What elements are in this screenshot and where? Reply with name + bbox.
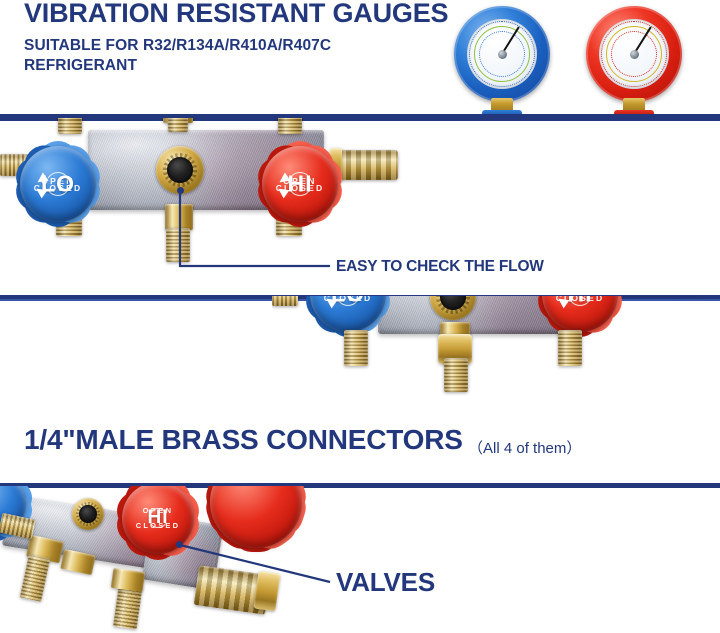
infographic-canvas: VIBRATION RESISTANT GAUGES SUITABLE FOR …	[0, 0, 720, 633]
callout-anchor-dot	[176, 541, 183, 548]
callout-label-valves: VALVES	[336, 567, 435, 598]
callout-leader-valves	[0, 0, 720, 633]
